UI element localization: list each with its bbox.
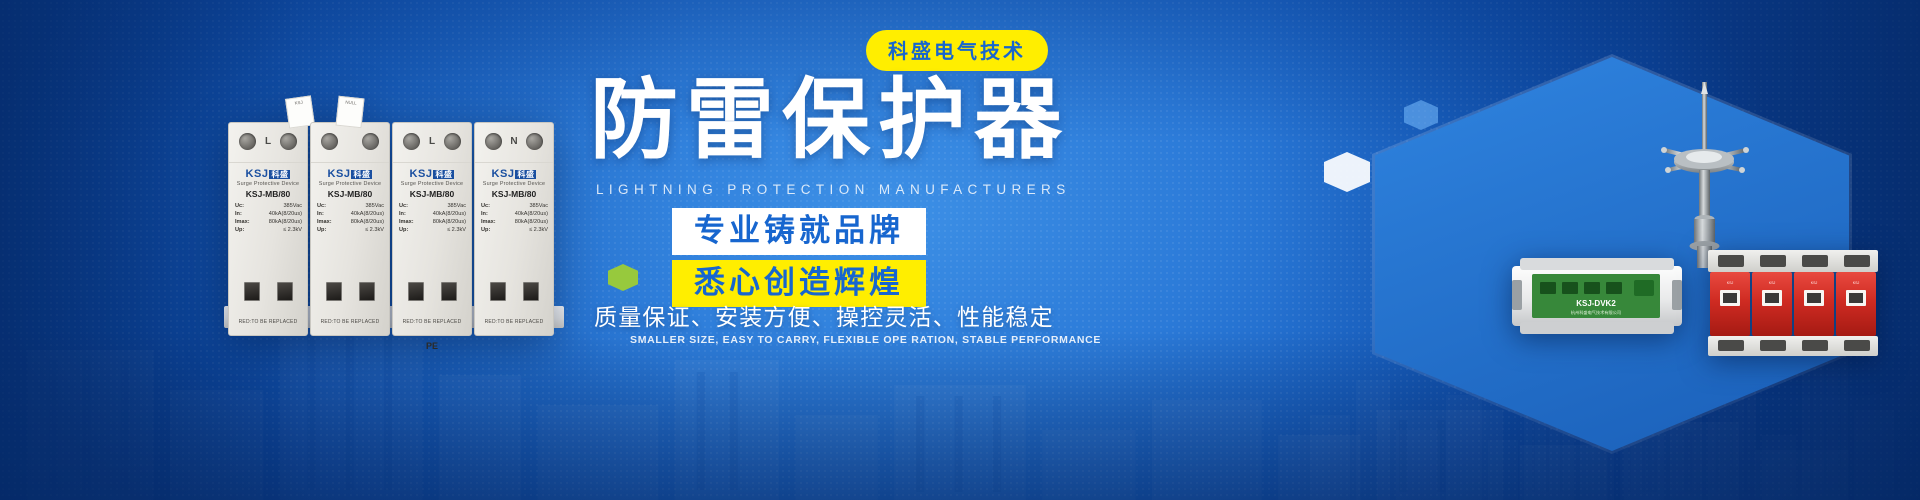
spec-key: In: — [317, 210, 324, 218]
spd-model: KSJ-MB/80 — [393, 189, 471, 199]
indicator-window — [490, 282, 506, 301]
brand-logo: KSJ科盛 — [229, 168, 307, 180]
spec-key: Uc: — [317, 202, 326, 210]
spec-value: 40kA(8/20us) — [351, 210, 384, 218]
spd-model: KSJ-MB/80 — [229, 189, 307, 199]
indicator-window — [359, 282, 375, 301]
indicator-window — [244, 282, 260, 301]
spec-value: 385Vac — [447, 202, 466, 210]
spec-value: 385Vac — [529, 202, 548, 210]
spd-replace-note: RED:TO BE REPLACED — [475, 319, 553, 325]
svg-text:KSJ: KSJ — [1769, 281, 1776, 285]
spec-key: Up: — [317, 226, 326, 234]
spd-model: KSJ-MB/80 — [311, 189, 389, 199]
terminal-screw-icon — [321, 133, 338, 150]
spec-value: ≤ 2.3kV — [283, 226, 302, 234]
brand-logo-cn: 科盛 — [351, 170, 372, 179]
spec-value: ≤ 2.3kV — [365, 226, 384, 234]
spec-key: Up: — [481, 226, 490, 234]
spd-module: KSJ L KSJ科盛 Surge Protective Device KSJ-… — [228, 122, 308, 336]
spd-module: N KSJ科盛 Surge Protective Device KSJ-MB/8… — [474, 122, 554, 336]
banner-copy-block: 科盛电气技术 防雷保护器 LIGHTNING PROTECTION MANUFA… — [578, 26, 1338, 406]
indicator-window — [326, 282, 342, 301]
ground-terminal-label: PE — [426, 341, 438, 351]
spec-key: In: — [399, 210, 406, 218]
svg-text:KSJ: KSJ — [1853, 281, 1860, 285]
spec-key: Imax: — [481, 218, 496, 226]
spec-value: 80kA(8/20us) — [269, 218, 302, 226]
spec-value: 385Vac — [283, 202, 302, 210]
banner-title: 防雷保护器 — [590, 76, 1070, 164]
brand-logo: KSJ科盛 — [393, 168, 471, 180]
spec-key: Imax: — [235, 218, 250, 226]
spec-key: In: — [481, 210, 488, 218]
brand-logo-cn: 科盛 — [515, 170, 536, 179]
feature-list-chinese: 质量保证、安装方便、操控灵活、性能稳定 — [594, 298, 1054, 332]
hexagon-decoration-medium — [1404, 100, 1438, 130]
spd-indicator-windows — [475, 282, 553, 301]
brand-logo-cn: 科盛 — [269, 170, 290, 179]
svg-text:KSJ: KSJ — [1727, 281, 1734, 285]
spec-key: Uc: — [481, 202, 490, 210]
brand-logo: KSJ科盛 — [311, 168, 389, 180]
surge-protector-device-photo: KSJ L KSJ科盛 Surge Protective Device KSJ-… — [228, 122, 558, 336]
spec-key: Uc: — [235, 202, 244, 210]
brand-logo-text: KSJ — [492, 168, 515, 180]
spd-module-top: L — [229, 123, 307, 163]
spec-value: 40kA(8/20us) — [433, 210, 466, 218]
terminal-screw-icon — [362, 133, 379, 150]
spec-value: ≤ 2.3kV — [447, 226, 466, 234]
hexagon-accent-icon — [608, 264, 638, 291]
spd-module: L KSJ科盛 Surge Protective Device KSJ-MB/8… — [392, 122, 472, 336]
product-showcase: KSJ-DVK2 杭州科盛电气技术有限公司 — [1332, 34, 1892, 464]
brand-logo-cn: 科盛 — [433, 170, 454, 179]
svg-text:杭州科盛电气技术有限公司: 杭州科盛电气技术有限公司 — [1571, 309, 1621, 316]
spd-specs: Uc:385Vac In:40kA(8/20us) Imax:80kA(8/20… — [481, 202, 548, 234]
company-badge: 科盛电气技术 — [866, 30, 1048, 71]
brand-logo-text: KSJ — [246, 168, 269, 180]
spec-value: 40kA(8/20us) — [515, 210, 548, 218]
brand-logo: KSJ科盛 — [475, 168, 553, 180]
spd-control-box-product-image: KSJ-DVK2 杭州科盛电气技术有限公司 — [1510, 252, 1684, 340]
spd-indicator-windows — [229, 282, 307, 301]
spd-pin-label: L — [429, 136, 435, 147]
banner-title-english: LIGHTNING PROTECTION MANUFACTURERS — [596, 182, 1071, 197]
terminal-screw-icon — [239, 133, 256, 150]
terminal-screw-icon — [280, 133, 297, 150]
indicator-window — [277, 282, 293, 301]
spd-module-top: N — [475, 123, 553, 163]
spec-key: Up: — [235, 226, 244, 234]
slogan-group: 专业铸就品牌 悉心创造辉煌 — [672, 208, 926, 307]
spd-pin-label: N — [510, 136, 517, 147]
promo-banner: KSJ L KSJ科盛 Surge Protective Device KSJ-… — [0, 0, 1920, 500]
spd-device-type: Surge Protective Device — [475, 181, 553, 187]
svg-text:KSJ-DVK2: KSJ-DVK2 — [1576, 299, 1616, 308]
spd-specs: Uc:385Vac In:40kA(8/20us) Imax:80kA(8/20… — [317, 202, 384, 234]
red-surge-protector-product-image: KSJKSJ KSJKSJ — [1704, 248, 1882, 358]
terminal-screw-icon — [526, 133, 543, 150]
indicator-window — [408, 282, 424, 301]
spd-indicator-windows — [393, 282, 471, 301]
spec-value: 40kA(8/20us) — [269, 210, 302, 218]
spec-key: Up: — [399, 226, 408, 234]
spd-brand: KSJ科盛 Surge Protective Device — [475, 168, 553, 187]
brand-logo-text: KSJ — [410, 168, 433, 180]
svg-text:KSJ: KSJ — [1811, 281, 1818, 285]
spd-module-top: L — [393, 123, 471, 163]
terminal-screw-icon — [444, 133, 461, 150]
lightning-rod-product-image — [1650, 82, 1760, 272]
spec-value: 385Vac — [365, 202, 384, 210]
spec-key: Imax: — [317, 218, 332, 226]
spd-brand: KSJ科盛 Surge Protective Device — [393, 168, 471, 187]
spd-replace-note: RED:TO BE REPLACED — [229, 319, 307, 325]
spd-specs: Uc:385Vac In:40kA(8/20us) Imax:80kA(8/20… — [235, 202, 302, 234]
spec-key: In: — [235, 210, 242, 218]
spd-model: KSJ-MB/80 — [475, 189, 553, 199]
terminal-screw-icon — [485, 133, 502, 150]
spec-value: 80kA(8/20us) — [515, 218, 548, 226]
spd-replace-note: RED:TO BE REPLACED — [311, 319, 389, 325]
slogan-line-1: 专业铸就品牌 — [672, 208, 926, 255]
brand-logo-text: KSJ — [328, 168, 351, 180]
spec-key: Uc: — [399, 202, 408, 210]
spd-brand: KSJ科盛 Surge Protective Device — [311, 168, 389, 187]
spec-value: 80kA(8/20us) — [433, 218, 466, 226]
spd-module-top — [311, 123, 389, 163]
spd-pin-label: L — [265, 136, 271, 147]
indicator-window — [523, 282, 539, 301]
spec-value: ≤ 2.3kV — [529, 226, 548, 234]
spec-key: Imax: — [399, 218, 414, 226]
terminal-screw-icon — [403, 133, 420, 150]
spd-replace-note: RED:TO BE REPLACED — [393, 319, 471, 325]
spd-specs: Uc:385Vac In:40kA(8/20us) Imax:80kA(8/20… — [399, 202, 466, 234]
spd-brand: KSJ科盛 Surge Protective Device — [229, 168, 307, 187]
feature-list-english: SMALLER SIZE, EASY TO CARRY, FLEXIBLE OP… — [630, 334, 1101, 346]
spd-indicator-windows — [311, 282, 389, 301]
spd-device-type: Surge Protective Device — [229, 181, 307, 187]
indicator-window — [441, 282, 457, 301]
spec-value: 80kA(8/20us) — [351, 218, 384, 226]
spd-device-type: Surge Protective Device — [393, 181, 471, 187]
spd-module: NULL KSJ科盛 Surge Protective Device KSJ-M… — [310, 122, 390, 336]
spd-device-type: Surge Protective Device — [311, 181, 389, 187]
